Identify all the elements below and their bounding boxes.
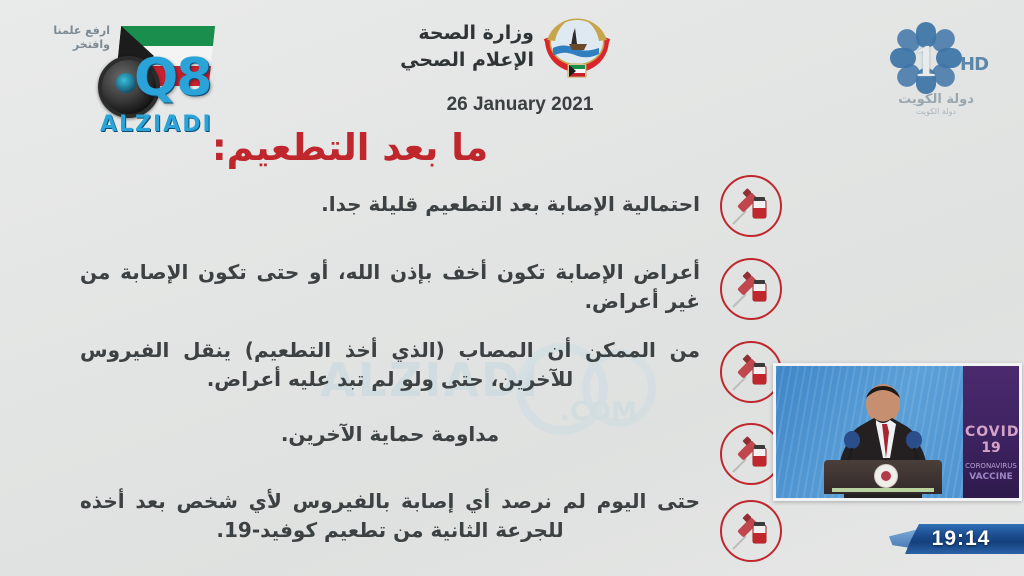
banner-line-1: COVID <box>965 424 1017 440</box>
brand-mark: Q8 <box>134 48 210 108</box>
hd-badge: HD <box>960 54 988 75</box>
page-title: ما بعد التطعيم: <box>0 126 700 169</box>
podium <box>824 460 942 494</box>
slide-paragraph: احتمالية الإصابة بعد التطعيم قليلة جدا. <box>80 190 700 219</box>
clock-badge: 19:14 <box>905 524 1024 554</box>
ministry-line-2: الإعلام الصحي <box>384 47 534 74</box>
vaccine-syringe-icon <box>720 175 782 237</box>
slide-paragraph: مداومة حماية الآخرين. <box>80 420 700 449</box>
channel-logo: 1 HD دولة الكويت دولة الكويت <box>870 18 1002 118</box>
banner-line-2: 19 <box>965 440 1017 456</box>
brand-logo: ارفع علمنا وافتخر Q8 ALZIADI <box>46 8 206 140</box>
channel-number: 1 <box>914 34 937 87</box>
channel-country-sub: دولة الكويت <box>878 107 994 116</box>
podium-seal-icon <box>874 464 898 488</box>
clock-time: 19:14 <box>905 527 1017 551</box>
live-video-inset[interactable]: COVID 19 CORONAVIRUS VACCINE <box>773 363 1022 501</box>
slide-paragraph: من الممكن أن المصاب (الذي أخذ التطعيم) ي… <box>80 336 700 394</box>
ministry-title: وزارة الصحة الإعلام الصحي <box>384 20 534 74</box>
brand-motto: ارفع علمنا وافتخر <box>48 24 110 52</box>
vaccine-syringe-icon <box>720 500 782 562</box>
banner-line-4: VACCINE <box>965 472 1017 482</box>
kuwait-state-emblem-icon <box>535 14 619 92</box>
slide-date: 26 January 2021 <box>400 94 640 116</box>
vaccine-syringe-icon <box>720 258 782 320</box>
slide-paragraph: حتى اليوم لم نرصد أي إصابة بالفيروس لأي … <box>80 487 700 545</box>
ministry-line-1: وزارة الصحة <box>384 20 534 47</box>
banner-line-3: CORONAVIRUS <box>965 462 1017 470</box>
broadcast-slide: ALZIADI .COM ارفع علمنا وافتخر Q8 ALZIAD… <box>0 0 1024 576</box>
channel-country: دولة الكويت <box>878 92 994 107</box>
covid-banner: COVID 19 CORONAVIRUS VACCINE <box>963 366 1019 498</box>
slide-paragraph: أعراض الإصابة تكون أخف بإذن الله، أو حتى… <box>80 258 700 316</box>
